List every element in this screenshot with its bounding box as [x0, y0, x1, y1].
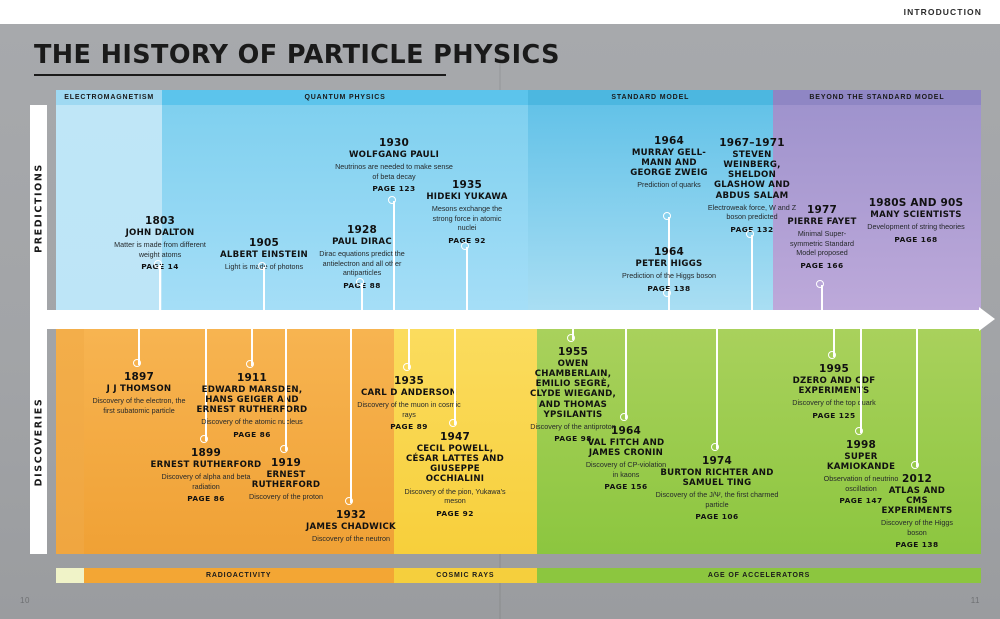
entry-year: 1998 [815, 439, 907, 451]
entry-year: 1967–1971 [705, 137, 799, 149]
era-segment-beyond-the-standard-model: BEYOND THE STANDARD MODEL [773, 90, 981, 105]
entry-people: OWEN CHAMBERLAIN, EMILIO SEGRÈ, CLYDE WI… [520, 359, 626, 420]
entry-year: 1964 [583, 425, 669, 437]
entry-page-ref[interactable]: PAGE 106 [655, 512, 779, 521]
discoveries-entry-1897-0[interactable]: 1897J J THOMSONDiscovery of the electron… [87, 371, 191, 415]
entry-page-ref[interactable]: PAGE 166 [785, 261, 859, 270]
page-title: THE HISTORY OF PARTICLE PHYSICS [34, 40, 560, 70]
entry-people: JOHN DALTON [112, 228, 208, 238]
entry-stem [751, 235, 753, 325]
entry-stem [263, 267, 265, 325]
discoveries-entry-1974-9[interactable]: 1974BURTON RICHTER AND SAMUEL TINGDiscov… [655, 455, 779, 521]
axis-chevron-3 [590, 310, 603, 328]
discoveries-entry-2012-12[interactable]: 2012ATLAS AND CMS EXPERIMENTSDiscovery o… [877, 473, 957, 549]
entry-stem [393, 201, 395, 325]
entry-year: 1911 [193, 372, 311, 384]
entry-page-ref[interactable]: PAGE 138 [877, 540, 957, 549]
entry-description: Discovery of the proton [231, 492, 341, 502]
entry-description: Mesons exchange the strong force in atom… [426, 204, 508, 233]
entry-year: 1930 [334, 137, 454, 149]
entry-stem [821, 285, 823, 325]
entry-people: PIERRE FAYET [785, 217, 859, 227]
predictions-entry-1977-8[interactable]: 1977PIERRE FAYETMinimal Super-symmetric … [785, 204, 859, 270]
entry-year: 1905 [215, 237, 313, 249]
entry-year: 1935 [426, 179, 508, 191]
title-underline [34, 74, 446, 76]
discoveries-entry-1919-3[interactable]: 1919ERNEST RUTHERFORDDiscovery of the pr… [231, 457, 341, 502]
phase-segment-spacer-0 [56, 568, 84, 583]
entry-year: 1803 [112, 215, 208, 227]
entry-people: SUPER KAMIOKANDE [815, 452, 907, 472]
predictions-band-0 [56, 105, 162, 310]
poster-page: INTRODUCTION 10 11 THE HISTORY OF PARTIC… [0, 0, 1000, 619]
entry-people: DZERO AND CDF EXPERIMENTS [778, 376, 890, 396]
entry-stem [860, 329, 862, 433]
rail-predictions: PREDICTIONS [30, 105, 47, 310]
entry-people: CARL D ANDERSON [353, 388, 465, 398]
entry-people: CECIL POWELL, CÉSAR LATTES AND GIUSEPPE … [404, 444, 506, 485]
rail-label-predictions: PREDICTIONS [33, 163, 44, 253]
phase-segment-age-of-accelerators: AGE OF ACCELERATORS [537, 568, 981, 583]
entry-year: 1977 [785, 204, 859, 216]
entry-people: BURTON RICHTER AND SAMUEL TING [655, 468, 779, 488]
entry-year: 1928 [305, 224, 420, 236]
entry-description: Prediction of quarks [624, 180, 714, 190]
rail-discoveries: DISCOVERIES [30, 329, 47, 554]
entry-people: WOLFGANG PAULI [334, 150, 454, 160]
page-header: INTRODUCTION [0, 0, 1000, 24]
axis-arrow-tip [979, 307, 995, 331]
axis-chevron-0 [150, 310, 163, 328]
entry-year: 2012 [877, 473, 957, 485]
entry-page-ref[interactable]: PAGE 89 [353, 422, 465, 431]
entry-people: MURRAY GELL-MANN AND GEORGE ZWEIG [624, 148, 714, 178]
timeline-axis-arrow [30, 310, 981, 329]
entry-year: 1932 [305, 509, 397, 521]
folio-right: 11 [971, 596, 980, 605]
entry-year: 1974 [655, 455, 779, 467]
discoveries-entry-1911-2[interactable]: 1911EDWARD MARSDEN, HANS GEIGER AND ERNE… [193, 372, 311, 439]
discoveries-entry-1995-10[interactable]: 1995DZERO AND CDF EXPERIMENTSDiscovery o… [778, 363, 890, 420]
entry-year: 1935 [353, 375, 465, 387]
entry-description: Matter is made from different weight ato… [112, 240, 208, 259]
entry-description: Dirac equations predict the antielectron… [305, 249, 420, 278]
axis-chevron-5 [840, 310, 853, 328]
discoveries-entry-1947-6[interactable]: 1947CECIL POWELL, CÉSAR LATTES AND GIUSE… [404, 431, 506, 518]
entry-description: Discovery of the pion, Yukawa's meson [404, 487, 506, 506]
entry-page-ref[interactable]: PAGE 92 [404, 509, 506, 518]
entry-description: Discovery of the neutron [305, 534, 397, 544]
axis-chevron-4 [730, 310, 743, 328]
entry-people: ALBERT EINSTEIN [215, 250, 313, 260]
entry-people: ERNEST RUTHERFORD [231, 470, 341, 490]
predictions-entry-1980s-and-90s-9[interactable]: 1980S AND 90SMANY SCIENTISTSDevelopment … [850, 197, 982, 244]
entry-year: 1919 [231, 457, 341, 469]
entry-stem [285, 329, 287, 451]
entry-people: J J THOMSON [87, 384, 191, 394]
predictions-entry-1964-6[interactable]: 1964PETER HIGGSPrediction of the Higgs b… [619, 246, 719, 293]
entry-people: MANY SCIENTISTS [850, 210, 982, 220]
entry-stem [466, 247, 468, 325]
era-band-bottom: RADIOACTIVITYCOSMIC RAYSAGE OF ACCELERAT… [56, 568, 981, 583]
era-segment-electromagnetism: ELECTROMAGNETISM [56, 90, 162, 105]
entry-people: JAMES CHADWICK [305, 522, 397, 532]
entry-stem [350, 329, 352, 503]
entry-description: Discovery of the atomic nucleus [193, 417, 311, 427]
entry-stem [159, 265, 161, 325]
folio-left: 10 [20, 596, 30, 605]
entry-year: 1955 [520, 346, 626, 358]
entry-year: 1947 [404, 431, 506, 443]
entry-description: Discovery of the Higgs boson [877, 518, 957, 537]
era-band-top: ELECTROMAGNETISMQUANTUM PHYSICSSTANDARD … [56, 90, 981, 105]
entry-year: 1964 [619, 246, 719, 258]
entry-description: Prediction of the Higgs boson [619, 271, 719, 281]
entry-stem [668, 294, 670, 325]
entry-description: Development of string theories [850, 222, 982, 232]
entry-stem [916, 329, 918, 467]
entry-year: 1980S AND 90S [850, 197, 982, 209]
phase-segment-cosmic-rays: COSMIC RAYS [394, 568, 537, 583]
running-head: INTRODUCTION [904, 7, 982, 17]
entry-description: Minimal Super-symmetric Standard Model p… [785, 229, 859, 258]
entry-stem [361, 283, 363, 325]
title-block: THE HISTORY OF PARTICLE PHYSICS [34, 40, 560, 76]
entry-people: PETER HIGGS [619, 259, 719, 269]
timeline-chart: ELECTROMAGNETISMQUANTUM PHYSICSSTANDARD … [56, 90, 981, 584]
entry-year: 1995 [778, 363, 890, 375]
entry-stem [716, 329, 718, 449]
entry-year: 1897 [87, 371, 191, 383]
discoveries-band-0 [56, 329, 84, 554]
era-segment-standard-model: STANDARD MODEL [528, 90, 773, 105]
entry-stem [454, 329, 456, 425]
discoveries-entry-1935-5[interactable]: 1935CARL D ANDERSONDiscovery of the muon… [353, 375, 465, 431]
entry-people: EDWARD MARSDEN, HANS GEIGER AND ERNEST R… [193, 385, 311, 415]
entry-people: PAUL DIRAC [305, 237, 420, 247]
era-segment-quantum-physics: QUANTUM PHYSICS [162, 90, 527, 105]
entry-people: STEVEN WEINBERG, SHELDON GLASHOW AND ABD… [705, 150, 799, 201]
entry-description: Discovery of the top quark [778, 398, 890, 408]
predictions-entry-1935-4[interactable]: 1935HIDEKI YUKAWAMesons exchange the str… [426, 179, 508, 245]
entry-page-ref[interactable]: PAGE 86 [193, 430, 311, 439]
axis-chevron-1 [280, 310, 293, 328]
entry-people: ATLAS AND CMS EXPERIMENTS [877, 486, 957, 516]
entry-description: Discovery of the electron, the first sub… [87, 396, 191, 415]
phase-segment-radioactivity: RADIOACTIVITY [84, 568, 394, 583]
entry-year: 1964 [624, 135, 714, 147]
rail-label-discoveries: DISCOVERIES [33, 397, 44, 486]
entry-page-ref[interactable]: PAGE 125 [778, 411, 890, 420]
entry-description: Discovery of the J/Ψ, the first charmed … [655, 490, 779, 509]
axis-chevron-2 [450, 310, 463, 328]
predictions-entry-1964-5[interactable]: 1964MURRAY GELL-MANN AND GEORGE ZWEIGPre… [624, 135, 714, 190]
entry-people: HIDEKI YUKAWA [426, 192, 508, 202]
entry-stem [625, 329, 627, 419]
entry-page-ref[interactable]: PAGE 168 [850, 235, 982, 244]
discoveries-entry-1932-4[interactable]: 1932JAMES CHADWICKDiscovery of the neutr… [305, 509, 397, 544]
entry-description: Discovery of the muon in cosmic rays [353, 400, 465, 419]
